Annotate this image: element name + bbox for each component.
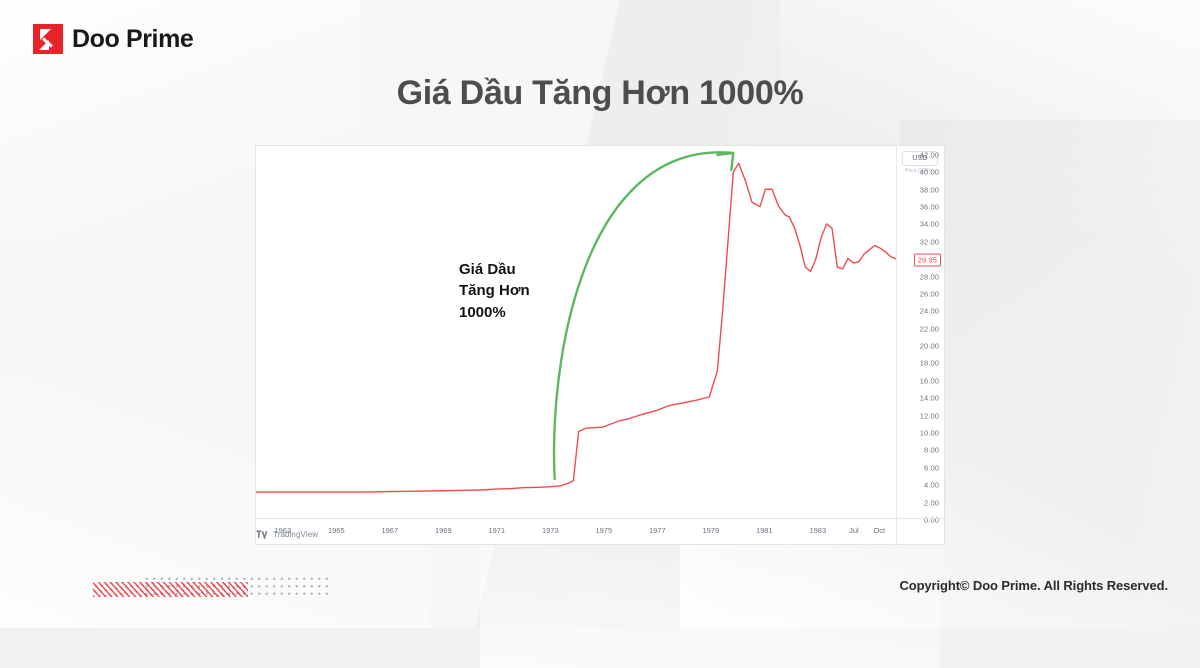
time-axis-tick: Jul bbox=[849, 526, 859, 535]
time-axis-tick: 1981 bbox=[756, 526, 773, 535]
background-facet bbox=[900, 120, 1200, 410]
time-axis-tick: 1973 bbox=[542, 526, 559, 535]
price-axis-tick: 14.00 bbox=[920, 394, 939, 403]
stripes-dots-decoration-icon bbox=[93, 575, 333, 599]
price-axis-tick: 26.00 bbox=[920, 289, 939, 298]
price-axis-tick: 38.00 bbox=[920, 185, 939, 194]
price-axis-tick: 32.00 bbox=[920, 237, 939, 246]
price-axis-tick: 22.00 bbox=[920, 324, 939, 333]
doo-prime-logo-icon bbox=[33, 24, 63, 54]
price-axis[interactable]: USD Price (USD) 42.0040.0038.0036.0034.0… bbox=[896, 146, 944, 518]
tradingview-label: TradingView bbox=[273, 530, 318, 539]
brand-logo[interactable]: Doo Prime bbox=[33, 24, 193, 54]
axis-corner bbox=[896, 518, 944, 544]
price-axis-tick: 10.00 bbox=[920, 429, 939, 438]
series-line-crude-oil bbox=[256, 163, 896, 492]
price-axis-tick: 12.00 bbox=[920, 411, 939, 420]
price-axis-tick: 42.00 bbox=[920, 150, 939, 159]
time-axis-tick: 1979 bbox=[702, 526, 719, 535]
time-axis-tick: 1971 bbox=[488, 526, 505, 535]
price-line-chart bbox=[256, 146, 896, 518]
tradingview-watermark[interactable]: TradingView bbox=[256, 530, 318, 539]
chart-svg bbox=[256, 146, 896, 518]
price-axis-tick: 2.00 bbox=[924, 498, 939, 507]
price-axis-tick: 24.00 bbox=[920, 307, 939, 316]
time-axis-tick: 1969 bbox=[435, 526, 452, 535]
time-axis-tick: 1975 bbox=[595, 526, 612, 535]
green-arrow-head-icon bbox=[717, 153, 733, 170]
chart-annotation-text: Giá Dầu Tăng Hơn 1000% bbox=[459, 259, 530, 323]
price-axis-tick: 4.00 bbox=[924, 481, 939, 490]
page-title: Giá Dầu Tăng Hơn 1000% bbox=[0, 74, 1200, 113]
tradingview-logo-icon bbox=[256, 530, 269, 539]
time-axis-tick: 1977 bbox=[649, 526, 666, 535]
red-stripe-bar bbox=[93, 582, 248, 597]
last-price-label[interactable]: 29.95 bbox=[914, 253, 941, 266]
price-axis-tick: 36.00 bbox=[920, 202, 939, 211]
price-axis-tick: 40.00 bbox=[920, 168, 939, 177]
price-axis-tick: 16.00 bbox=[920, 376, 939, 385]
copyright-text: Copyright© Doo Prime. All Rights Reserve… bbox=[899, 578, 1168, 593]
price-axis-tick: 8.00 bbox=[924, 446, 939, 455]
time-axis-tick: 1965 bbox=[328, 526, 345, 535]
time-axis[interactable]: 1963196519671969197119731975197719791981… bbox=[256, 518, 896, 544]
chart-card: Giá Dầu Tăng Hơn 1000% USD Price (USD) 4… bbox=[255, 145, 945, 545]
price-axis-tick: 34.00 bbox=[920, 220, 939, 229]
price-axis-tick: 20.00 bbox=[920, 342, 939, 351]
time-axis-tick: 1967 bbox=[381, 526, 398, 535]
price-axis-tick: 18.00 bbox=[920, 359, 939, 368]
price-axis-tick: 28.00 bbox=[920, 272, 939, 281]
chart-plot-area: Giá Dầu Tăng Hơn 1000% bbox=[256, 146, 896, 518]
brand-name: Doo Prime bbox=[72, 25, 193, 54]
price-axis-tick: 6.00 bbox=[924, 463, 939, 472]
time-axis-tick: Oct bbox=[873, 526, 885, 535]
time-axis-tick: 1983 bbox=[809, 526, 826, 535]
